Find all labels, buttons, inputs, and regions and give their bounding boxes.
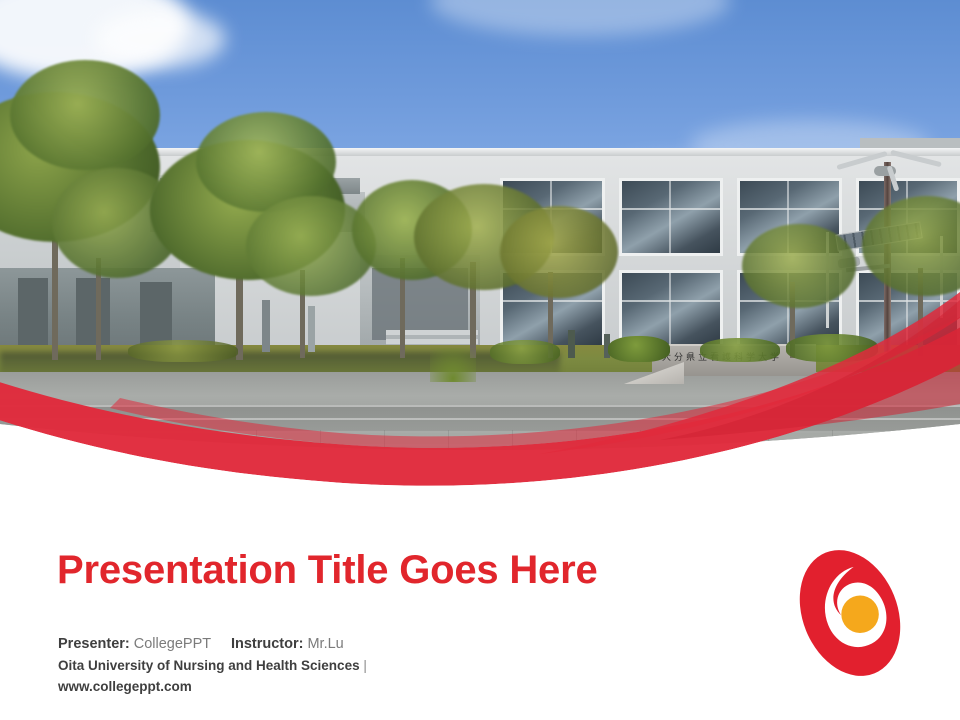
- presentation-slide: 大分県立看護科学大学: [0, 0, 960, 720]
- bollard-pole: [308, 306, 315, 352]
- bush: [700, 338, 780, 362]
- meta-line-organization: Oita University of Nursing and Health Sc…: [58, 655, 367, 676]
- bush: [786, 334, 878, 362]
- bush: [608, 336, 670, 362]
- presenter-value: CollegePPT: [134, 636, 211, 652]
- presenter-meta-block: Presenter: CollegePPT Instructor: Mr.Lu …: [58, 634, 367, 697]
- paving-tiles: [0, 430, 960, 500]
- cloud: [95, 10, 225, 68]
- page-title: Presentation Title Goes Here: [57, 548, 598, 593]
- oita-university-logo: [776, 538, 924, 688]
- presenter-label: Presenter:: [58, 636, 130, 652]
- bush: [490, 340, 560, 364]
- instructor-label: Instructor:: [231, 636, 304, 652]
- bollard-pole: [262, 300, 270, 352]
- campus-photo-image: 大分県立看護科学大学: [0, 0, 960, 500]
- grass-tuft: [430, 348, 476, 382]
- organization-name: Oita University of Nursing and Health Sc…: [58, 658, 360, 673]
- campus-photo-banner: 大分県立看護科学大学: [0, 0, 960, 500]
- bush: [128, 340, 238, 362]
- meta-line-website: www.collegeppt.com: [58, 676, 367, 697]
- website-url[interactable]: www.collegeppt.com: [58, 679, 192, 694]
- asphalt-road: [0, 405, 960, 500]
- bollard-pole: [568, 330, 575, 358]
- instructor-value: Mr.Lu: [307, 636, 343, 652]
- meta-separator: |: [363, 658, 367, 673]
- meta-line-presenter: Presenter: CollegePPT Instructor: Mr.Lu: [58, 634, 367, 655]
- window: [619, 178, 724, 256]
